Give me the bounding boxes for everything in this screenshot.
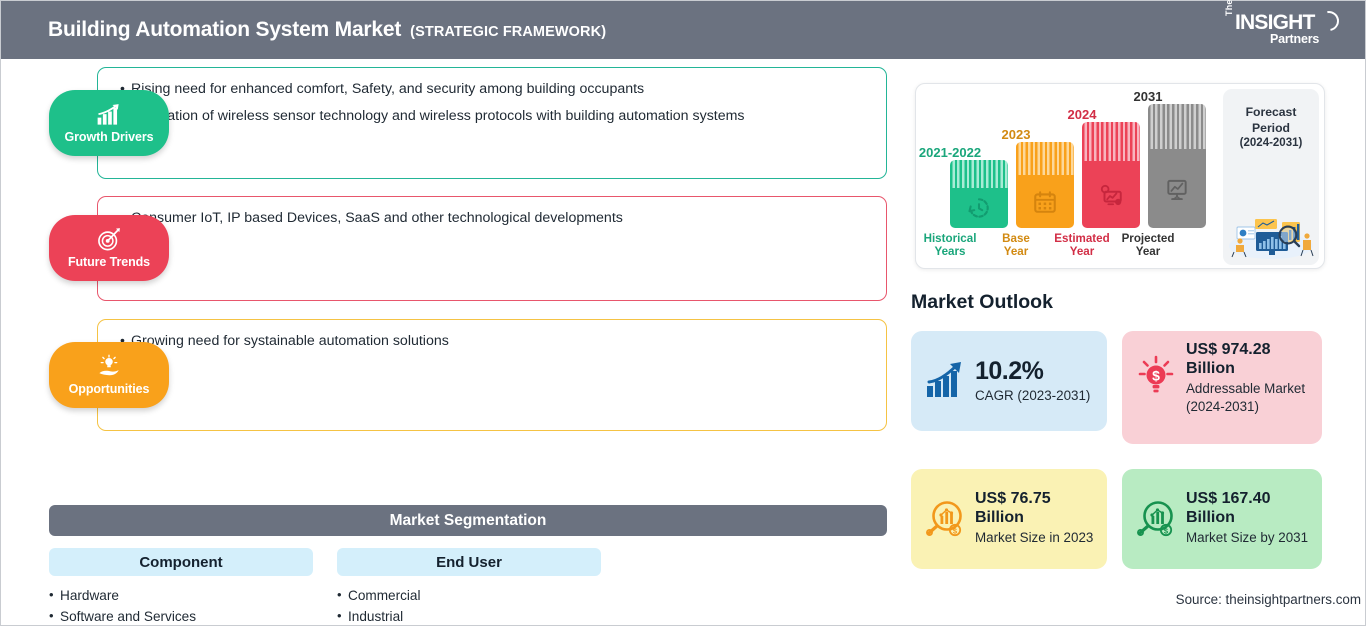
badge-growth-drivers[interactable]: Growth Drivers <box>49 90 169 156</box>
logo-partners-text: Partners <box>1270 32 1319 46</box>
timeline-year-label: 2021-2022 <box>919 145 981 160</box>
analytics-illustration <box>1225 206 1317 260</box>
kpi-subtitle: Market Size in 2023 <box>975 529 1095 548</box>
segmentation-header[interactable]: Component <box>49 548 313 576</box>
list-item: Industrial <box>337 607 601 626</box>
kpi-text-group: US$ 974.28 Billion Addressable Market (2… <box>1186 341 1310 417</box>
bullet-item: Growing need for systainable automation … <box>120 332 868 351</box>
forecast-period-panel: Forecast Period (2024-2031) <box>1223 89 1319 265</box>
kpi-text-group: US$ 167.40 Billion Market Size by 2031 <box>1186 490 1310 547</box>
segmentation-column-end-user: End User Commercial Industrial Residenti… <box>337 548 601 626</box>
timeline-year-label: 2024 <box>1068 107 1097 122</box>
growth-chart-icon <box>95 102 123 128</box>
svg-text:$: $ <box>1152 368 1160 384</box>
segmentation-column-component: Component Hardware Software and Services <box>49 548 313 626</box>
header-title-group: Building Automation System Market (STRAT… <box>48 18 606 42</box>
infographic-page: Building Automation System Market (STRAT… <box>0 0 1366 626</box>
study-timeline-chart: 2021-2022 HistoricalYears 2023 <box>915 83 1325 269</box>
logo-the-text: The <box>1224 0 1234 16</box>
page-subtitle: (STRATEGIC FRAMEWORK) <box>410 24 606 40</box>
kpi-card-market-size-2023[interactable]: $ US$ 76.75 Billion Market Size in 2023 <box>911 469 1107 569</box>
kpi-value: US$ 167.40 Billion <box>1186 490 1310 528</box>
panel-growth-drivers: Rising need for enhanced comfort, Safety… <box>97 67 887 179</box>
kpi-value: US$ 974.28 Billion <box>1186 341 1310 379</box>
segmentation-header[interactable]: End User <box>337 548 601 576</box>
timeline-caption: ProjectedYear <box>1122 232 1175 258</box>
market-outlook-title: Market Outlook <box>911 291 1053 314</box>
magnifier-chart-icon: $ <box>1135 498 1177 540</box>
list-item: Commercial <box>337 586 601 607</box>
badge-label: Growth Drivers <box>65 130 154 144</box>
kpi-text-group: 10.2% CAGR (2023-2031) <box>975 357 1090 406</box>
calendar-icon <box>1032 189 1058 215</box>
kpi-subtitle: Market Size by 2031 <box>1186 529 1310 548</box>
right-column: 2021-2022 HistoricalYears 2023 <box>906 59 1366 625</box>
forecast-word-2: Period <box>1252 121 1290 135</box>
forecast-period-label: Forecast Period (2024-2031) <box>1240 105 1303 151</box>
estimate-gear-icon <box>1098 182 1124 208</box>
growth-bar-arrow-icon <box>924 360 966 402</box>
kpi-card-market-size-2031[interactable]: $ US$ 167.40 Billion Market Size by 2031 <box>1122 469 1322 569</box>
lightbulb-dollar-icon: $ <box>1135 355 1177 397</box>
timeline-year-label: 2031 <box>1134 89 1163 104</box>
badge-label: Opportunities <box>69 382 150 396</box>
list-item: Hardware <box>49 586 313 607</box>
market-segmentation-title: Market Segmentation <box>49 505 887 536</box>
source-attribution: Source: theinsightpartners.com <box>1176 592 1361 607</box>
kpi-value: 10.2% <box>975 357 1090 387</box>
projection-screen-icon <box>1164 176 1190 202</box>
timeline-year-label: 2023 <box>1002 127 1031 142</box>
lightbulb-hand-icon <box>95 354 123 380</box>
logo-arc-icon <box>1315 7 1343 35</box>
bullet-item: Integration of wireless sensor technolog… <box>120 107 868 126</box>
bullet-item: Rising need for enhanced comfort, Safety… <box>120 80 868 99</box>
left-column: Rising need for enhanced comfort, Safety… <box>1 59 901 625</box>
segmentation-item-list: Commercial Industrial Residential <box>337 586 601 626</box>
target-icon <box>95 227 123 253</box>
kpi-text-group: US$ 76.75 Billion Market Size in 2023 <box>975 490 1095 547</box>
bullet-list-growth-drivers: Rising need for enhanced comfort, Safety… <box>98 68 886 138</box>
kpi-subtitle: Addressable Market (2024-2031) <box>1186 380 1310 417</box>
badge-future-trends[interactable]: Future Trends <box>49 215 169 281</box>
list-item: Software and Services <box>49 607 313 626</box>
kpi-card-addressable-market[interactable]: $ US$ 974.28 Billion Addressable Market … <box>1122 331 1322 444</box>
page-header: Building Automation System Market (STRAT… <box>1 1 1365 59</box>
magnifier-chart-icon: $ <box>924 498 966 540</box>
timeline-caption: BaseYear <box>1002 232 1030 258</box>
segmentation-item-list: Hardware Software and Services <box>49 586 313 626</box>
kpi-value: US$ 76.75 Billion <box>975 490 1095 528</box>
history-clock-icon <box>966 195 992 221</box>
forecast-word-1: Forecast <box>1246 105 1297 119</box>
forecast-period-years: (2024-2031) <box>1240 136 1303 151</box>
panel-future-trends: Consumer IoT, IP based Devices, SaaS and… <box>97 196 887 301</box>
badge-opportunities[interactable]: Opportunities <box>49 342 169 408</box>
badge-label: Future Trends <box>68 255 150 269</box>
panel-opportunities: Growing need for systainable automation … <box>97 319 887 431</box>
timeline-caption: EstimatedYear <box>1054 232 1109 258</box>
bullet-list-future-trends: Consumer IoT, IP based Devices, SaaS and… <box>98 197 886 240</box>
page-title: Building Automation System Market <box>48 18 401 42</box>
kpi-subtitle: CAGR (2023-2031) <box>975 387 1090 406</box>
bullet-list-opportunities: Growing need for systainable automation … <box>98 320 886 363</box>
kpi-card-cagr[interactable]: 10.2% CAGR (2023-2031) <box>911 331 1107 431</box>
bullet-item: Consumer IoT, IP based Devices, SaaS and… <box>120 209 868 228</box>
timeline-caption: HistoricalYears <box>924 232 977 258</box>
insight-partners-logo: The INSIGHT Partners <box>1224 10 1342 52</box>
